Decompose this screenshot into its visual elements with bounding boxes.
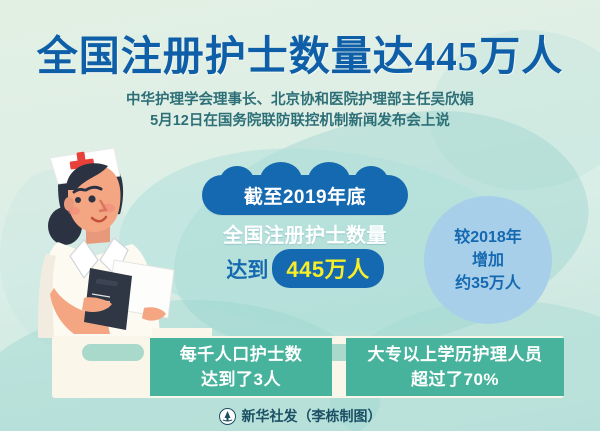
infographic-poster: 全国注册护士数量达445万人 中华护理学会理事长、北京协和医院护理部主任吴欣娟 … (0, 0, 600, 431)
footer-credit: 新华社发（李栋制图） (0, 406, 600, 426)
growth-line-3: 约35万人 (455, 272, 521, 295)
xinhua-logo-icon (219, 408, 236, 425)
main-statistic-card: 截至2019年底 全国注册护士数量 达到 445万人 (196, 175, 414, 287)
stat-left-line-2: 达到了3人 (201, 367, 281, 392)
subtitle-line-2: 5月12日在国务院联防联控机制新闻发布会上说 (0, 111, 600, 132)
highlight-value: 445万人 (272, 249, 383, 288)
nurse-illustration (28, 138, 203, 338)
decorative-pill-1 (82, 344, 144, 361)
stat-box-education-level: 大专以上学历护理人员 超过了70% (346, 338, 564, 396)
growth-line-1: 较2018年 (454, 226, 522, 249)
growth-line-2: 增加 (472, 249, 504, 272)
stat-left-line-1: 每千人口护士数 (180, 342, 303, 367)
main-statistic-value-row: 达到 445万人 (196, 249, 414, 288)
page-title: 全国注册护士数量达445万人 (0, 22, 600, 82)
subtitle-line-1: 中华护理学会理事长、北京协和医院护理部主任吴欣娟 (0, 90, 600, 111)
main-statistic-label: 全国注册护士数量 (196, 219, 414, 248)
credit-text: 新华社发（李栋制图） (242, 406, 382, 426)
date-pill-label: 截至2019年底 (244, 182, 366, 209)
stat-box-nurses-per-thousand: 每千人口护士数 达到了3人 (150, 338, 332, 396)
date-pill: 截至2019年底 (202, 175, 408, 215)
stat-right-line-2: 超过了70% (411, 367, 499, 392)
reach-label: 达到 (226, 254, 268, 284)
subtitle: 中华护理学会理事长、北京协和医院护理部主任吴欣娟 5月12日在国务院联防联控机制… (0, 90, 600, 132)
stat-right-line-1: 大专以上学历护理人员 (368, 342, 543, 367)
growth-circle-badge: 较2018年 增加 约35万人 (424, 196, 552, 324)
